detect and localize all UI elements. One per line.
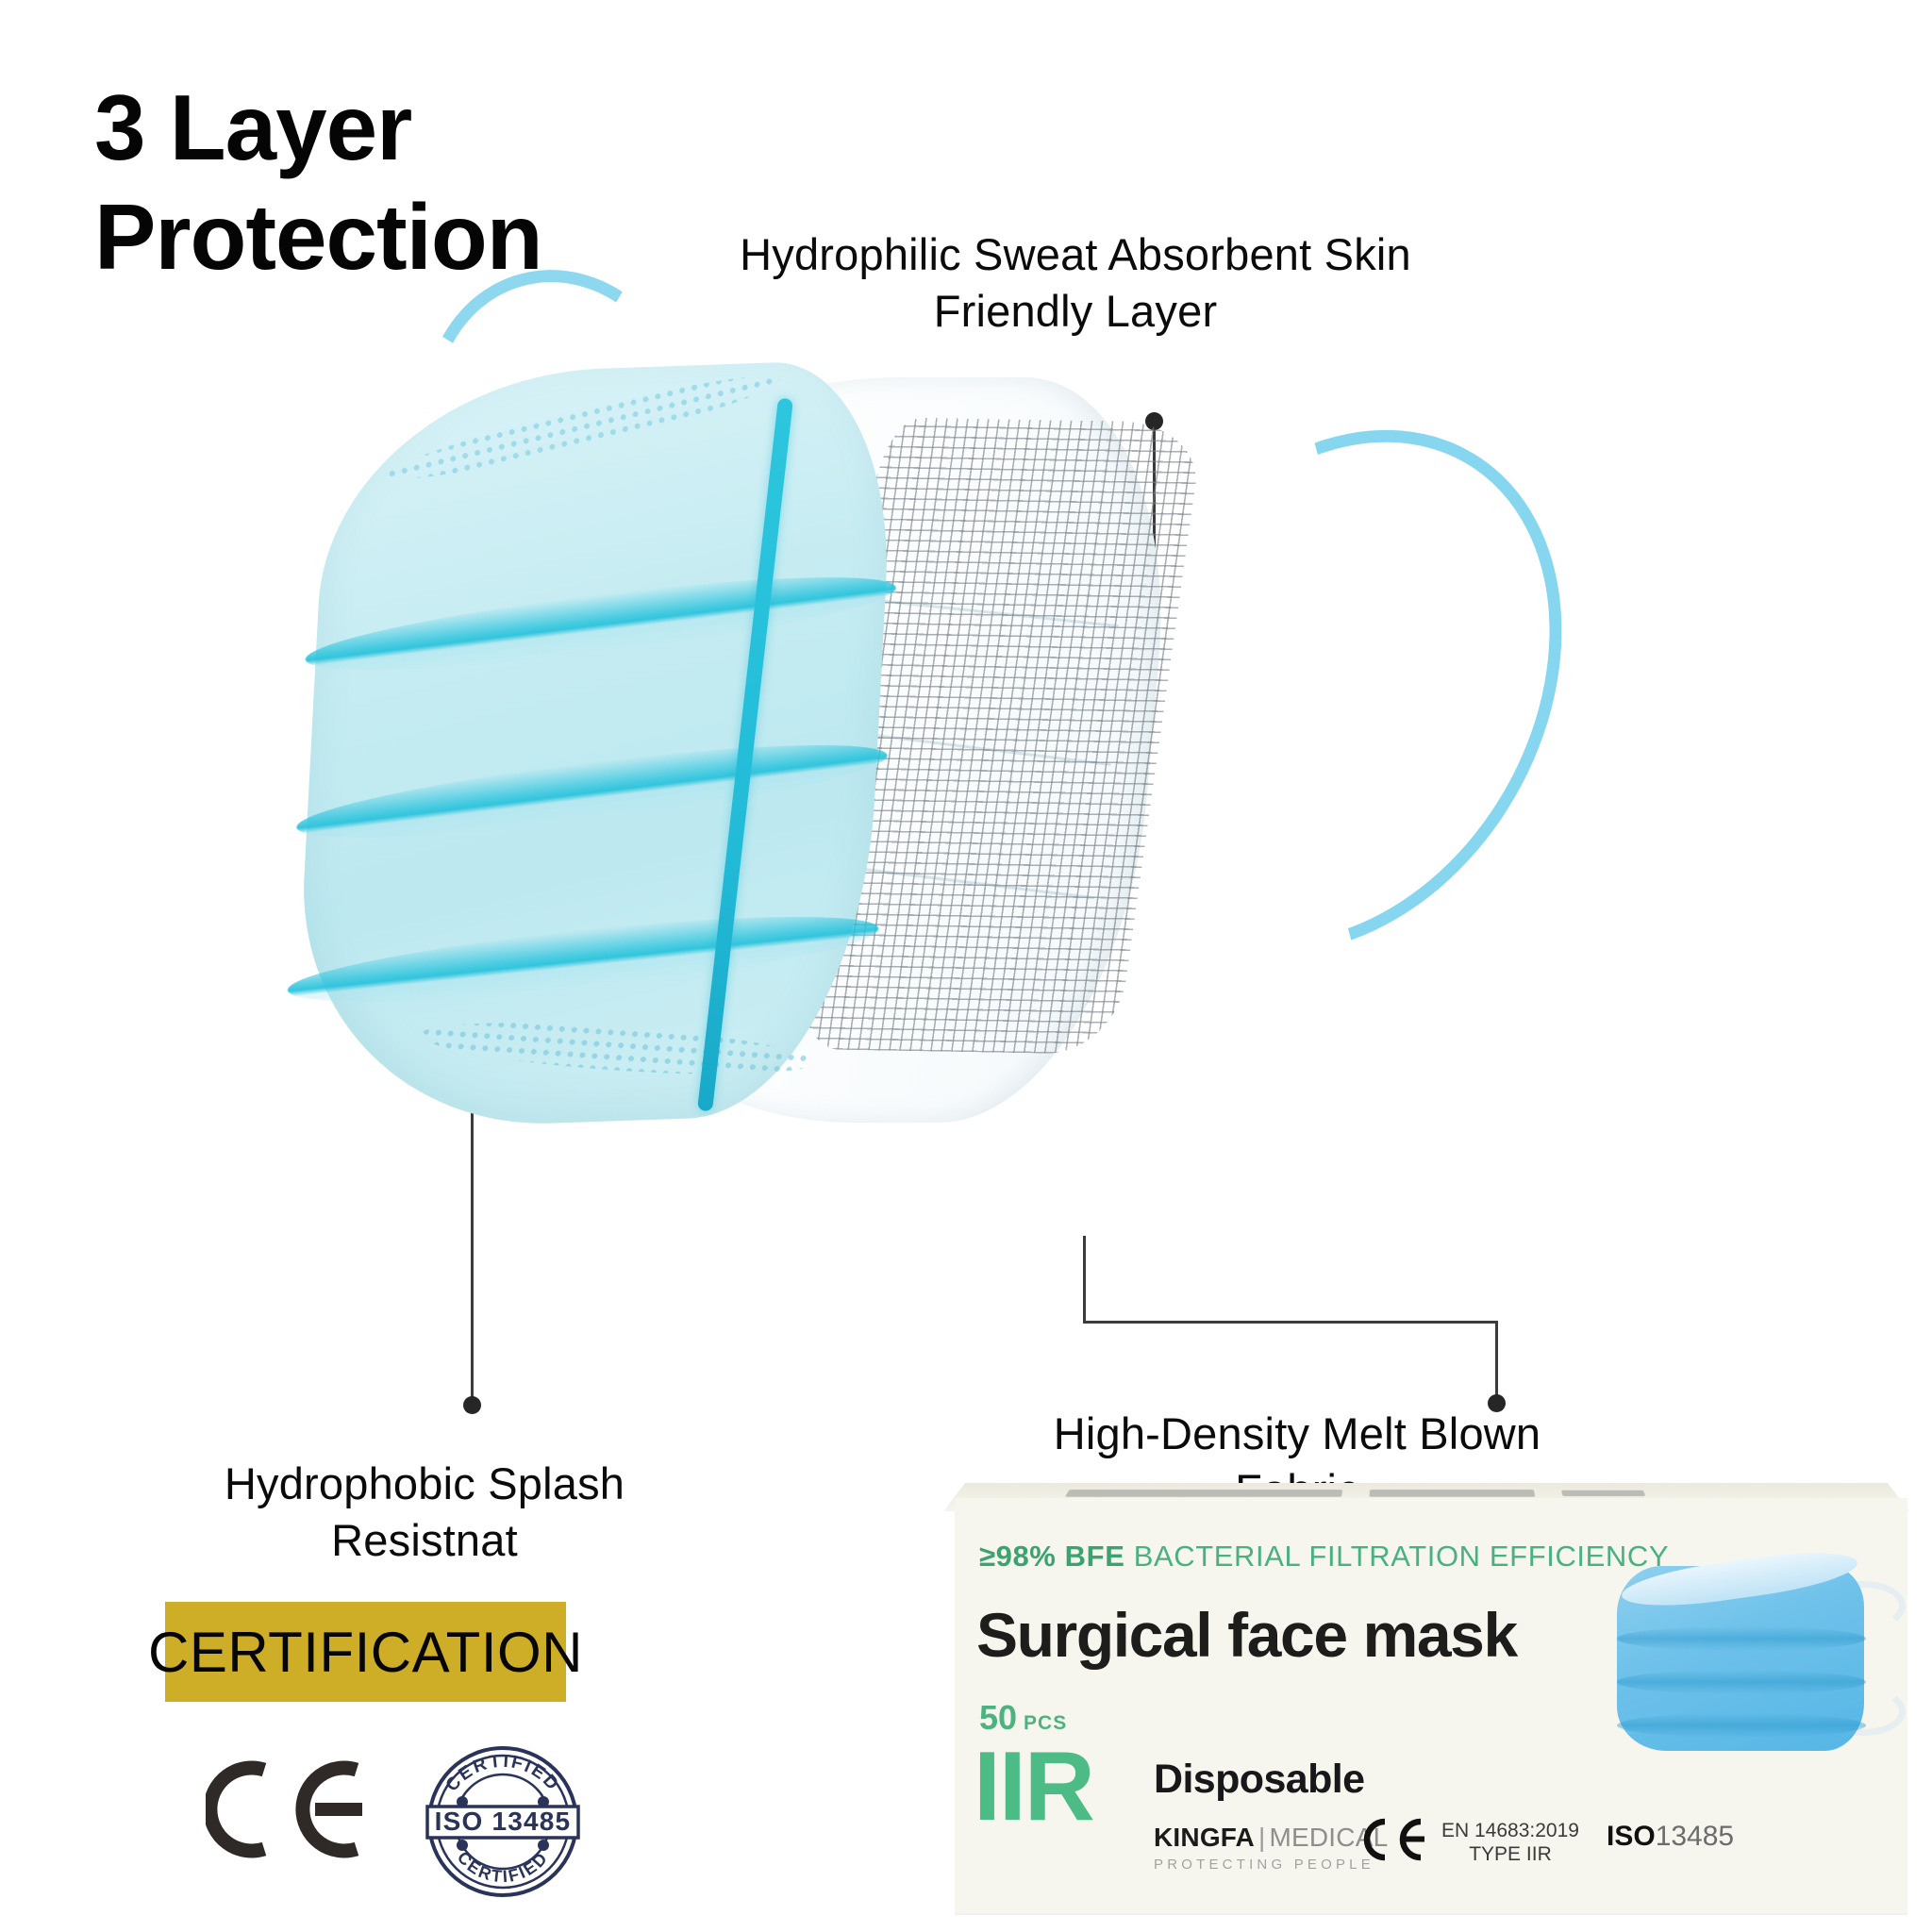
box-ce-mark-icon [1362, 1815, 1428, 1864]
box-quantity-number: 50 [979, 1698, 1017, 1737]
mask-blue-outer-layer [291, 358, 897, 1132]
box-mask-pleat-3 [1617, 1713, 1866, 1738]
box-bfe-text: BACTERIAL FILTRATION EFFICIENCY [1134, 1540, 1669, 1573]
box-disposable-label: Disposable [1154, 1757, 1364, 1803]
box-brand-name: KINGFA [1154, 1823, 1255, 1852]
box-mask-artwork [1594, 1545, 1906, 1790]
svg-text:ISO 13485: ISO 13485 [435, 1807, 572, 1836]
mask-pleat-3 [287, 899, 878, 1019]
certification-banner: CERTIFICATION [165, 1602, 566, 1702]
box-brand-separator: | [1258, 1823, 1265, 1852]
box-bfe-value: ≥98% BFE [979, 1540, 1124, 1573]
ce-mark-icon [206, 1753, 385, 1866]
box-standard-line-1: EN 14683:2019 [1441, 1819, 1579, 1842]
page-title-line-2: Protection [94, 183, 717, 292]
leader-line-bottom-right-drop [1495, 1321, 1498, 1401]
surgical-mask-illustration [311, 340, 1651, 1236]
box-bfe-line: ≥98% BFE BACTERIAL FILTRATION EFFICIENCY [979, 1540, 1669, 1574]
box-quantity-unit: PCS [1024, 1712, 1067, 1734]
box-iso-label: ISO13485 [1607, 1821, 1734, 1853]
box-brand-tagline: PROTECTING PEOPLE [1154, 1857, 1374, 1873]
box-standard: EN 14683:2019 TYPE IIR [1441, 1819, 1579, 1866]
leader-dot-bottom-left [463, 1396, 481, 1414]
annotation-hydrophilic-layer: Hydrophilic Sweat Absorbent Skin Friendl… [670, 226, 1481, 340]
mask-pleat-1 [305, 558, 897, 689]
box-iso-prefix: ISO [1607, 1821, 1656, 1852]
box-type-code: IIR [974, 1743, 1093, 1832]
leader-dot-bottom-right [1488, 1394, 1506, 1412]
box-brand: KINGFA|MEDICAL [1154, 1823, 1388, 1853]
box-product-title: Surgical face mask [976, 1599, 1517, 1671]
certification-label: CERTIFICATION [148, 1620, 583, 1685]
page-title: 3 Layer Protection [94, 74, 717, 291]
page-title-line-1: 3 Layer [94, 75, 411, 179]
annotation-hydrophobic-layer: Hydrophobic Splash Resistnat [142, 1456, 708, 1569]
infographic-canvas: 3 Layer Protection Hydrophilic Sweat Abs… [0, 0, 1932, 1932]
leader-line-bottom-right-horizontal [1083, 1321, 1498, 1324]
box-iso-number: 13485 [1656, 1821, 1734, 1852]
box-standard-line-2: TYPE IIR [1441, 1842, 1579, 1866]
leader-line-bottom-right-stem [1083, 1236, 1086, 1324]
box-mask-pleat-1 [1617, 1626, 1866, 1651]
mask-pleat-2 [295, 726, 888, 857]
iso-13485-seal-icon: CERTIFIED CERTIFIED ISO 13485 [425, 1743, 581, 1900]
box-mask-pleat-2 [1617, 1670, 1866, 1694]
svg-text:CERTIFIED: CERTIFIED [454, 1848, 552, 1887]
mask-stitch-bottom [416, 1013, 816, 1084]
